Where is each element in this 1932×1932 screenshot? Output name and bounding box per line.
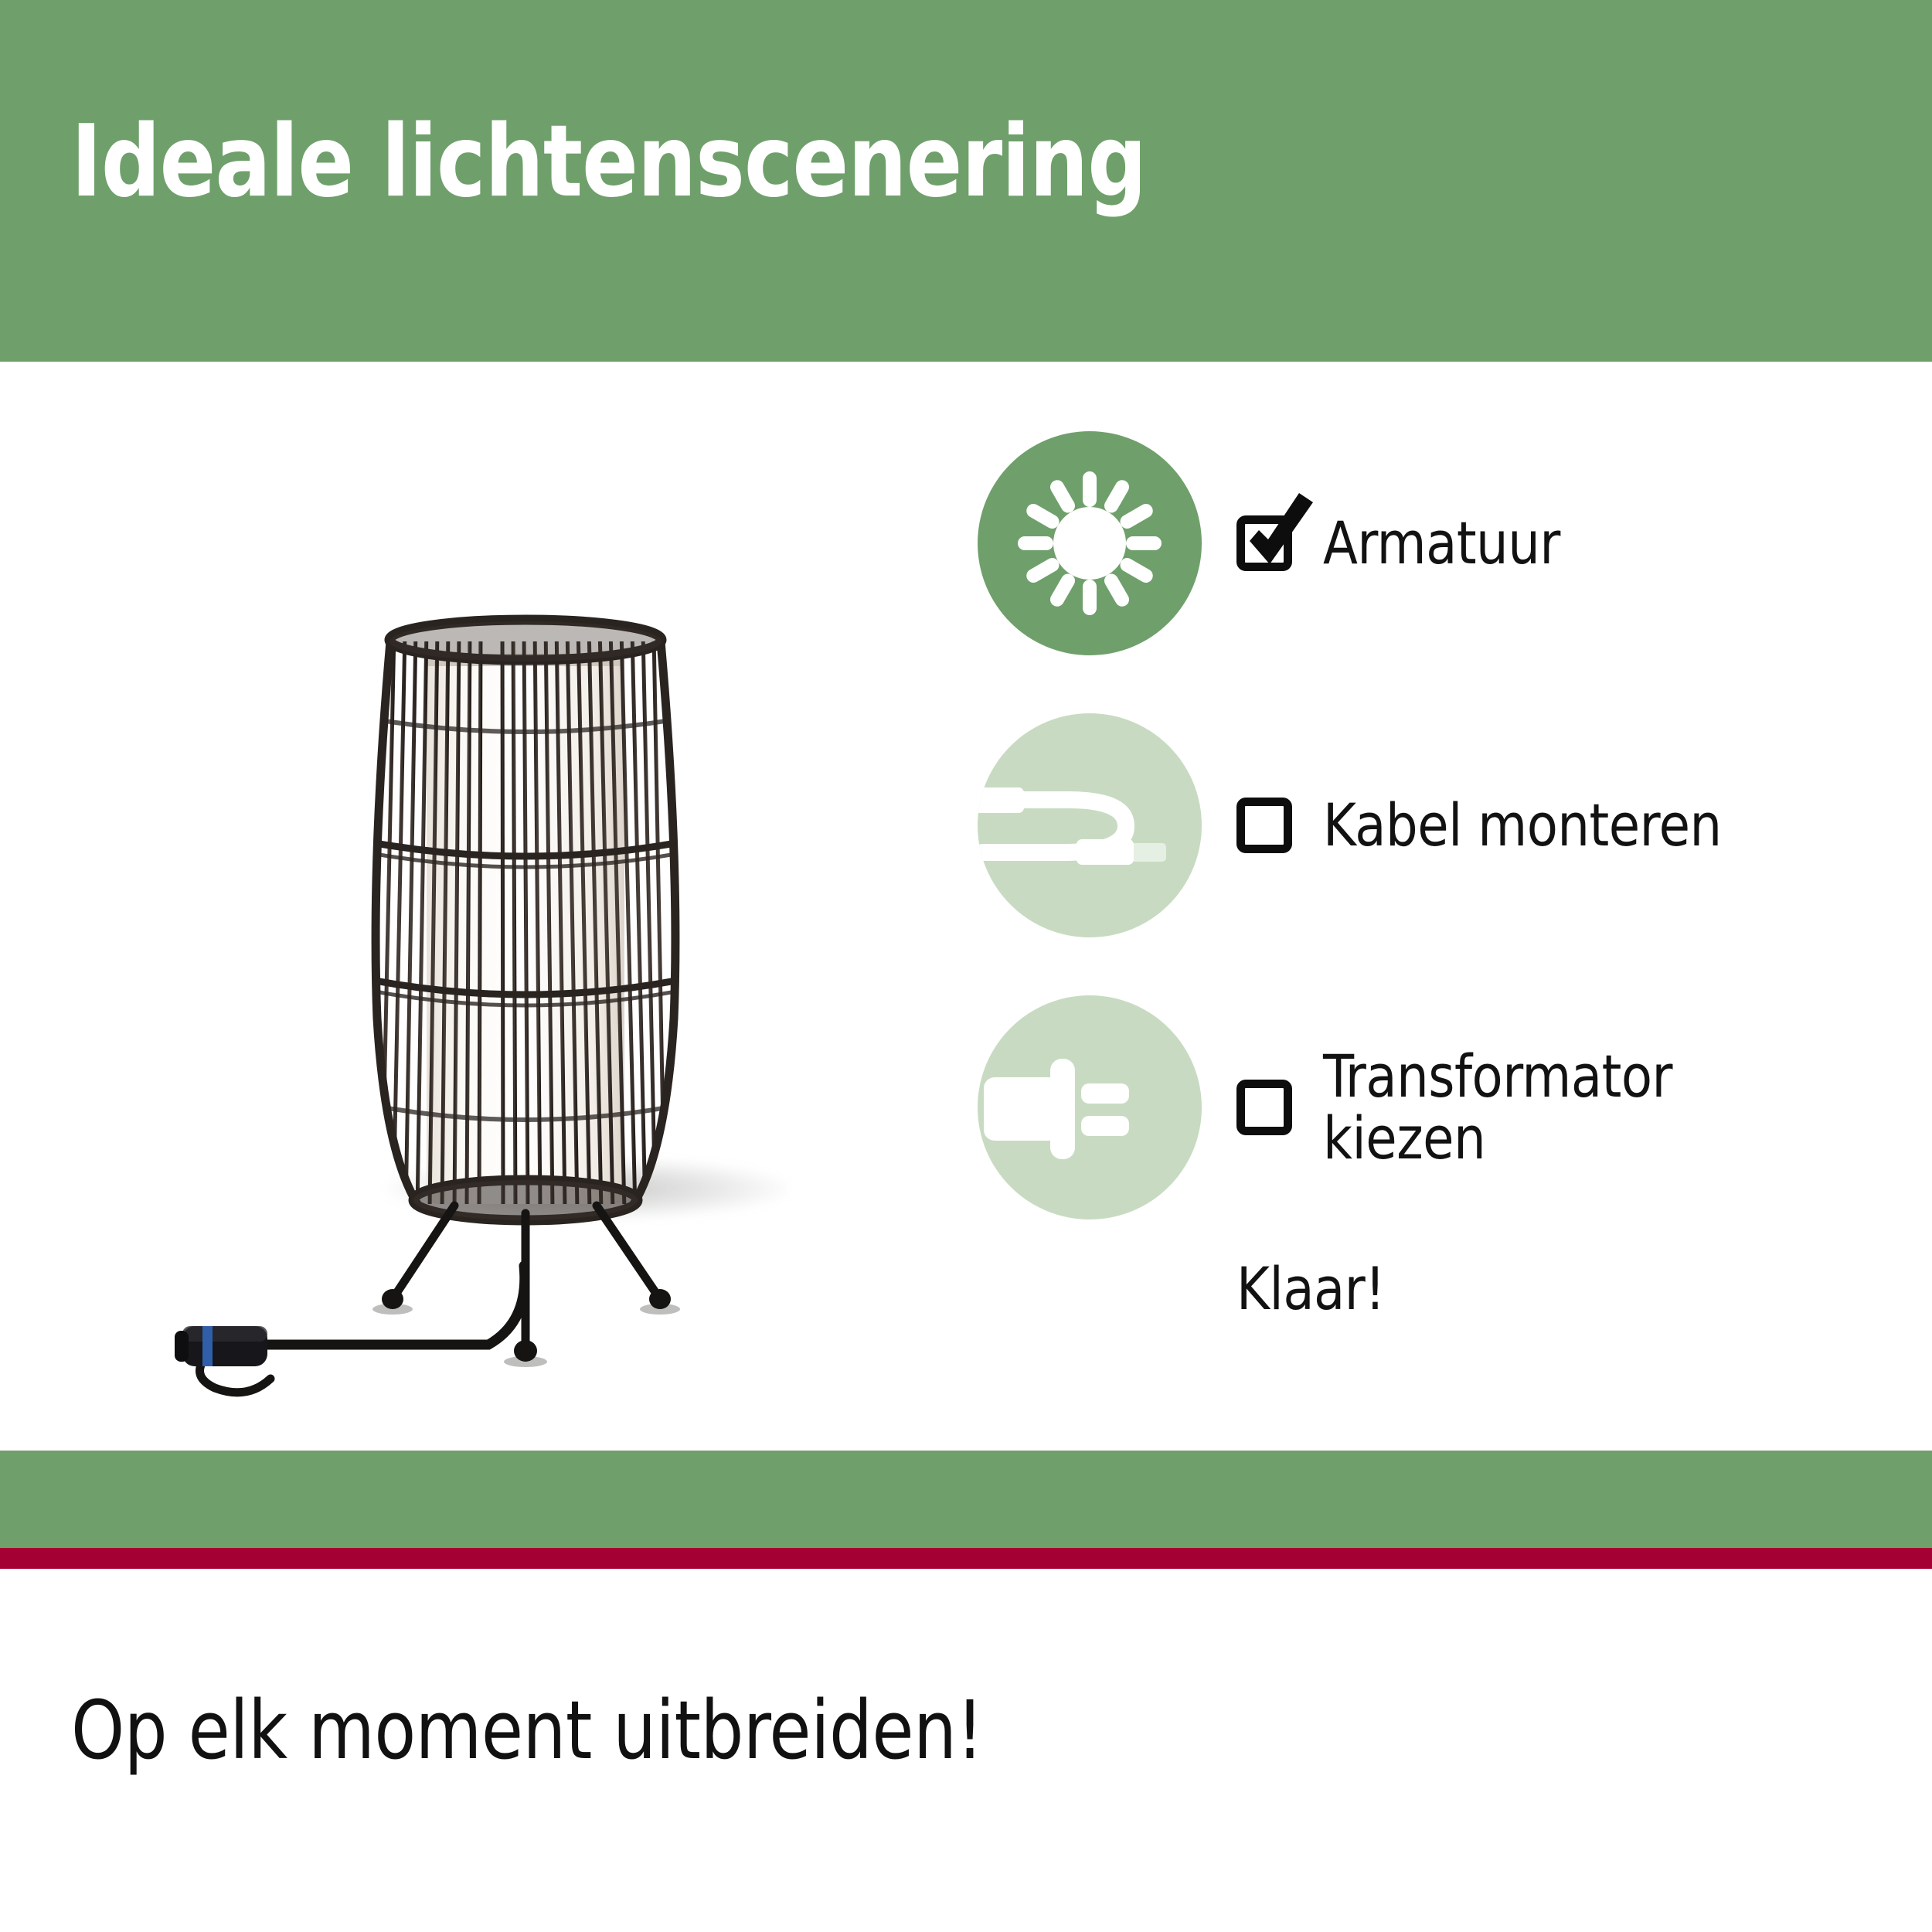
check-icon [1233, 493, 1325, 586]
page-title: Ideale lichtenscenering [71, 113, 1146, 212]
step-icon-circle-1 [978, 431, 1202, 655]
divider-band-green [0, 1451, 1932, 1548]
divider-band-red [0, 1548, 1932, 1569]
checklist-label-kabel-monteren: Kabel monteren [1323, 794, 1722, 856]
checklist-row-label-group-2: Kabel monteren [1236, 794, 1738, 856]
lamp-svg [139, 369, 912, 1436]
cable-icon [978, 713, 1202, 937]
checkbox-armatuur[interactable] [1236, 515, 1292, 571]
product-image [139, 369, 912, 1436]
checklist-label-transformator-kiezen: Transformator kiezen [1323, 1046, 1672, 1169]
lamp-illustration [139, 369, 912, 1436]
header-banner: Ideale lichtenscenering [0, 0, 1932, 362]
checkbox-kabel-monteren[interactable] [1236, 798, 1292, 853]
lamp-frame [371, 620, 680, 1220]
cable-connector [175, 1326, 267, 1366]
checklist-done-label: Klaar! [1236, 1254, 1385, 1323]
step-icon-circle-2 [978, 713, 1202, 937]
plug-icon [978, 995, 1202, 1219]
checklist-row-label-group-3: Transformator kiezen [1236, 1046, 1687, 1169]
step-icon-circle-3 [978, 995, 1202, 1219]
checklist-label-armatuur: Armatuur [1323, 512, 1560, 574]
main-content: Armatuur Kab [0, 362, 1932, 1451]
checklist-row-label-group-1: Armatuur [1236, 512, 1570, 574]
footer: Op elk moment uitbreiden! [0, 1569, 1932, 1932]
checklist: Armatuur Kab [978, 416, 1905, 1420]
checkbox-transformator-kiezen[interactable] [1236, 1080, 1292, 1135]
checklist-item-kabel-monteren[interactable]: Kabel monteren [978, 713, 1738, 937]
checklist-item-armatuur[interactable]: Armatuur [978, 431, 1570, 655]
sun-icon [978, 431, 1202, 655]
checklist-item-transformator-kiezen[interactable]: Transformator kiezen [978, 995, 1687, 1219]
footer-text: Op elk moment uitbreiden! [71, 1683, 983, 1777]
